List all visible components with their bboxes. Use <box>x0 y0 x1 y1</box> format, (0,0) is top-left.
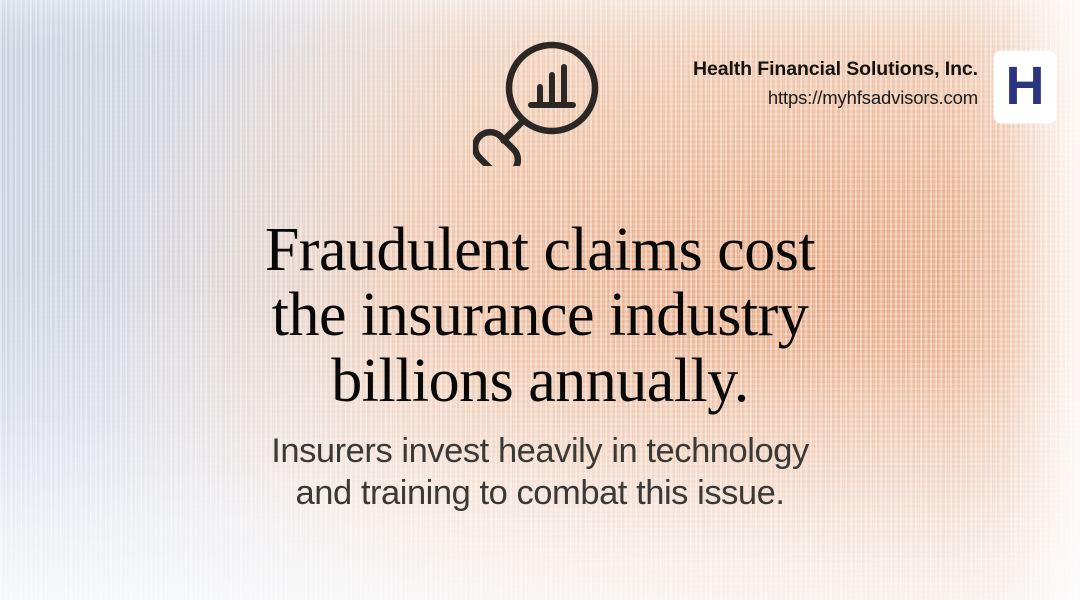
subheadline-line-2: and training to combat this issue. <box>120 472 960 514</box>
logo-letter-h: H <box>1006 59 1045 113</box>
brand-url[interactable]: https://myhfsadvisors.com <box>693 87 978 109</box>
headline-line-1: Fraudulent claims cost <box>150 218 930 283</box>
header-bar: Health Financial Solutions, Inc. https:/… <box>0 0 1080 170</box>
headline: Fraudulent claims cost the insurance ind… <box>0 218 1080 414</box>
brand-text-block: Health Financial Solutions, Inc. https:/… <box>693 58 978 109</box>
headline-line-2: the insurance industry <box>150 283 930 348</box>
main-copy-block: Fraudulent claims cost the insurance ind… <box>0 218 1080 514</box>
brand-name: Health Financial Solutions, Inc. <box>693 58 978 81</box>
social-card-canvas: Health Financial Solutions, Inc. https:/… <box>0 0 1080 600</box>
headline-line-3: billions annually. <box>150 349 930 414</box>
subheadline: Insurers invest heavily in technology an… <box>0 430 1080 514</box>
subheadline-line-1: Insurers invest heavily in technology <box>120 430 960 472</box>
logo-badge: H <box>994 51 1056 123</box>
magnifying-glass-bar-chart-icon <box>473 36 611 166</box>
